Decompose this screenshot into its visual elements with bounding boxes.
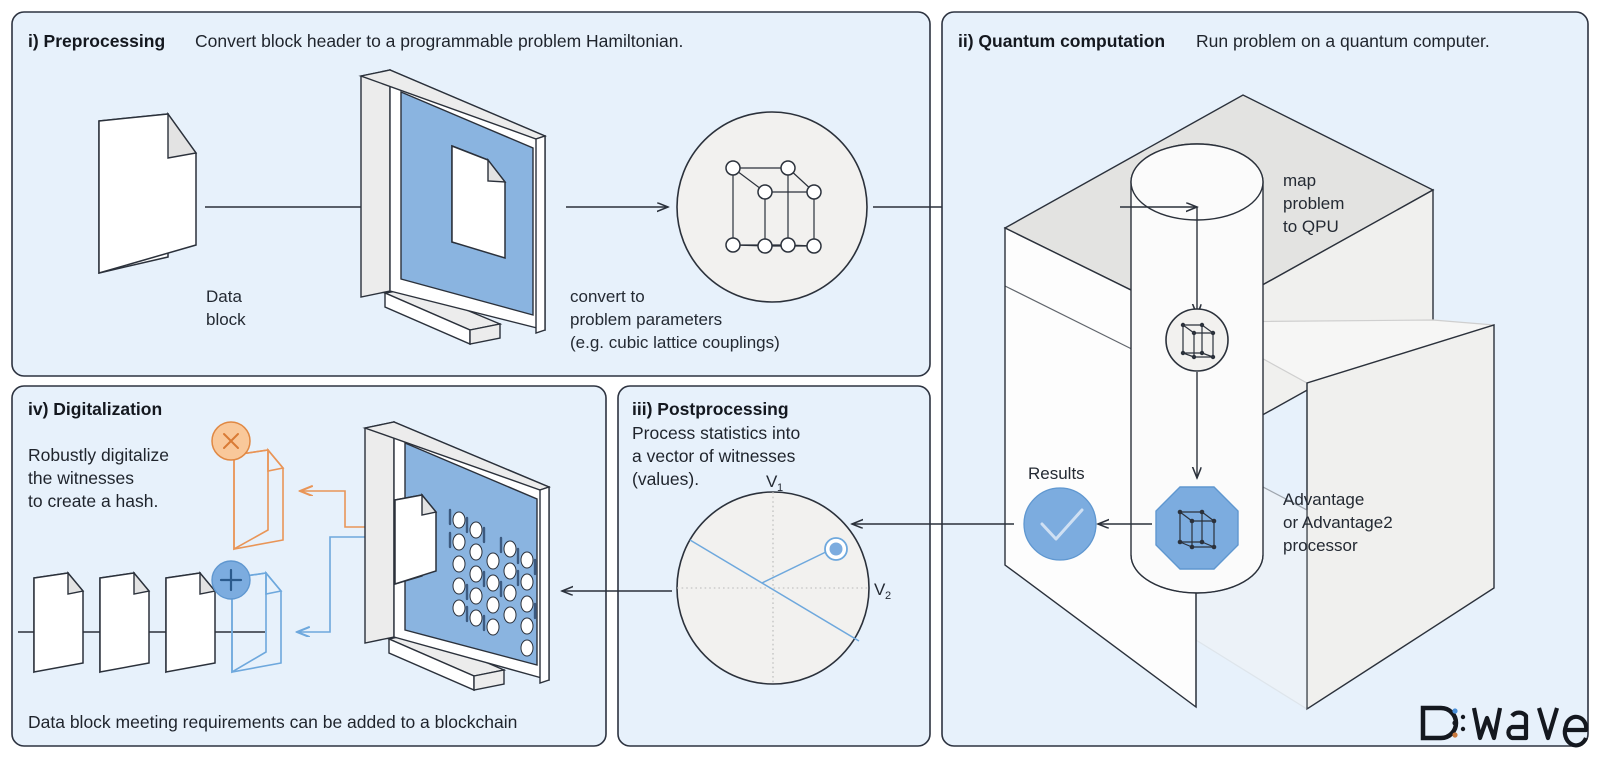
panel-digitalization-line3: to create a hash. [28, 491, 158, 511]
panel-digitalization-line1: Robustly digitalize [28, 445, 169, 465]
panel-postprocessing-step: iii) Postprocessing [632, 399, 789, 419]
lattice-badge-icon [1166, 309, 1228, 371]
data-block-label-line1: Data [206, 287, 242, 306]
blockchain-document-3 [166, 573, 215, 672]
processor-label-line1: Advantage [1283, 490, 1364, 509]
map-label-line2: problem [1283, 194, 1344, 213]
results-label: Results [1028, 464, 1085, 483]
diagram-root: i) Preprocessing Convert block header to… [0, 0, 1600, 778]
processor-label-line2: or Advantage2 [1283, 513, 1393, 532]
blockchain-document-2 [100, 573, 149, 672]
map-label-line3: to QPU [1283, 217, 1339, 236]
panel-digitalization-footer: Data block meeting requirements can be a… [28, 712, 517, 732]
panel-quantum-text: Run problem on a quantum computer. [1196, 31, 1490, 51]
processor-label-line3: processor [1283, 536, 1358, 555]
map-label-line1: map [1283, 171, 1316, 190]
panel-postprocessing-line3: (values). [632, 469, 699, 489]
cubic-lattice-graph-icon [677, 112, 867, 302]
data-block-document-icon [99, 114, 196, 273]
panel-preprocessing-text: Convert block header to a programmable p… [195, 31, 683, 51]
panel-digitalization: iv) Digitalization Robustly digitalize t… [12, 386, 606, 746]
panel-preprocessing: i) Preprocessing Convert block header to… [12, 12, 930, 376]
panel-postprocessing: iii) Postprocessing Process statistics i… [618, 386, 930, 746]
processor-octagon-icon [1156, 487, 1238, 569]
axis-label-v2-sub: 2 [885, 590, 891, 602]
panel-postprocessing-line2: a vector of witnesses [632, 446, 796, 466]
quantum-computer-box [1005, 95, 1494, 709]
panel-postprocessing-line1: Process statistics into [632, 423, 800, 443]
panel-quantum-step: ii) Quantum computation [958, 31, 1165, 51]
panel-digitalization-line2: the witnesses [28, 468, 134, 488]
data-block-label-line2: block [206, 310, 246, 329]
convert-label-line3: (e.g. cubic lattice couplings) [570, 333, 780, 352]
witness-point [830, 543, 843, 556]
axis-label-v1-sub: 1 [777, 482, 783, 494]
convert-label-line2: problem parameters [570, 310, 722, 329]
convert-label-line1: convert to [570, 287, 645, 306]
panel-preprocessing-step: i) Preprocessing [28, 31, 165, 51]
results-check-icon [1024, 488, 1096, 560]
panel-quantum-computation: ii) Quantum computation Run problem on a… [942, 12, 1588, 746]
panel-digitalization-step: iv) Digitalization [28, 399, 162, 419]
blockchain-document-1 [34, 573, 83, 672]
